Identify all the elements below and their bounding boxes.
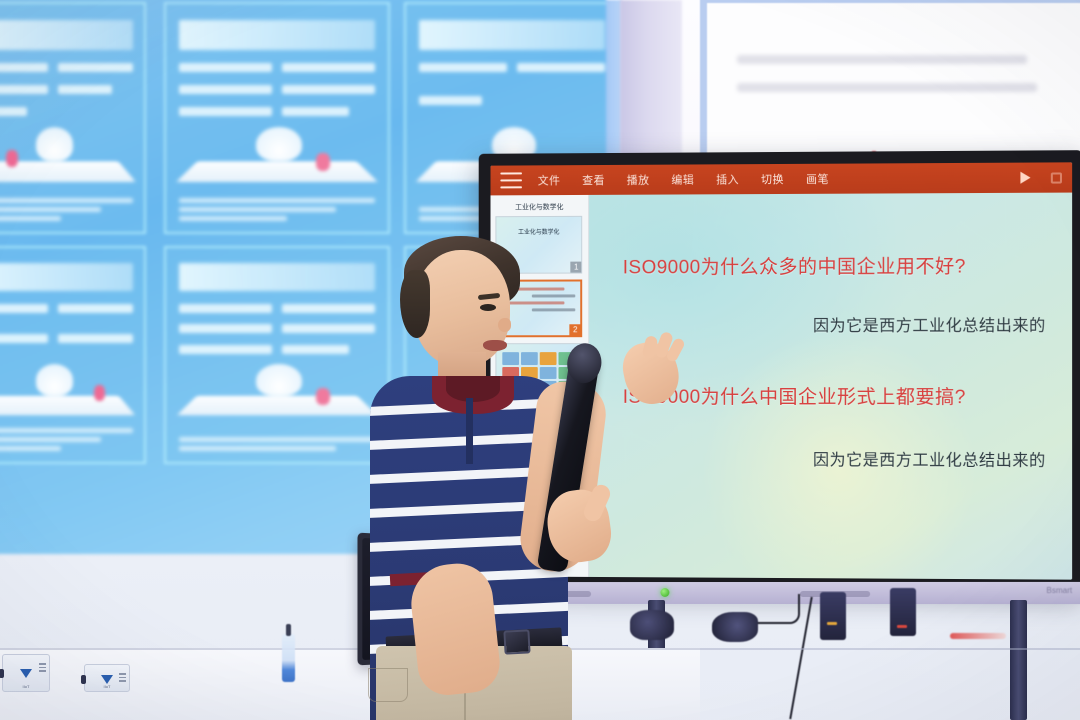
led-bullet [419,63,507,72]
led-bullet [179,324,272,333]
document-title: 工业化与数学化 [495,199,583,216]
device-status-leds [39,663,46,672]
led-bullet [179,85,272,94]
led-bullet [58,334,133,343]
led-panel-caption [0,189,133,221]
play-icon[interactable] [1020,172,1030,184]
speaker-left [820,592,846,640]
illustration-dome [36,364,74,396]
illustration-plate [0,395,135,414]
menu-item-edit[interactable]: 编辑 [671,171,694,187]
trouser-pocket [368,668,408,702]
conference-camera-2 [712,612,758,642]
power-led-indicator [660,588,669,597]
illustration-dome [256,364,302,396]
caption-line [0,446,61,451]
led-panel-bullets [179,304,374,360]
led-bullet [517,63,605,72]
slide-answer-1: 因为它是西方工业化总结出来的 [813,312,1046,336]
gateway-module-device: IIoT [2,654,50,692]
display-stand-leg-right [1010,600,1027,720]
led-panel-title [0,20,133,50]
slide-question-1: ISO9000为什么众多的中国企业用不好? [623,251,966,279]
led-bullet [282,85,375,94]
menu-item-view[interactable]: 查看 [582,172,605,188]
whiteboard-writing [737,83,1037,92]
illustration-plate [176,161,377,181]
presentation-scene: 文件 查看 播放 编辑 插入 切换 画笔 工业化与数学化 [0,0,1080,720]
led-panel-caption [0,421,133,451]
sensor-module-device: IIoT [84,664,130,692]
whiteboard [700,0,1080,172]
menu-item-switch[interactable]: 切换 [761,171,784,187]
presenter-nose [498,318,511,332]
display-brand-label: Bsmart [1046,586,1072,595]
led-panel-2 [164,2,390,234]
toolbar-actions [1020,171,1062,183]
microphone-head [564,341,604,386]
caption-line [0,437,101,442]
led-bullet [0,85,48,94]
app-toolbar: 文件 查看 播放 编辑 插入 切换 画笔 [490,162,1072,195]
speaker-led-icon [897,625,907,628]
caption-line [0,207,101,212]
menu-bar: 文件 查看 播放 编辑 插入 切换 画笔 [538,171,829,189]
caption-line [0,428,133,433]
led-bullet [0,107,27,116]
led-panel-illustration [188,364,366,420]
belt-buckle [503,629,530,654]
led-panel-title [179,263,374,291]
device-caption: IIoT [104,684,111,689]
hamburger-menu-icon[interactable] [500,172,522,188]
led-panel-title [179,20,374,50]
led-bullet [179,63,272,72]
illustration-figure [316,153,330,171]
illustration-figure [94,385,106,402]
illustration-dome [256,127,302,161]
illustration-figure [6,150,18,168]
presenter [352,232,652,720]
bottle-cap [286,624,291,636]
led-bullet [282,107,349,116]
device-connector [81,675,86,684]
led-panel-bullets [0,304,133,360]
presenter-eye [480,304,496,311]
led-panel-title [0,263,133,291]
led-panel-bullets [419,63,606,122]
slide-answer-2: 因为它是西方工业化总结出来的 [813,446,1046,471]
menu-item-file[interactable]: 文件 [538,172,561,188]
led-bullet [0,63,48,72]
led-panel-caption [179,189,374,221]
speaker-led-icon [827,622,837,625]
illustration-plate [0,161,135,181]
led-panel-illustration [0,364,126,420]
device-connector [0,669,4,678]
presenter-hair-side [400,270,430,338]
caption-line [0,216,61,221]
caption-line [179,216,286,221]
led-bullet [0,304,48,313]
caption-line [179,437,374,442]
led-bullet [179,107,272,116]
illustration-figure [316,388,330,405]
stop-square-icon[interactable] [1051,172,1062,183]
led-panel-bullets [179,63,374,122]
speaker-right [890,588,916,636]
led-panel-caption [179,421,374,451]
led-bullet [282,345,349,354]
illustration-plate [177,395,376,414]
led-panel-1 [0,2,146,234]
presenter-collar-inner [446,376,500,402]
red-pointer-stick [950,633,1006,639]
led-bullet [58,63,133,72]
led-panel-title [419,20,606,50]
illustration-dome [36,127,74,161]
led-bullet [0,334,48,343]
whiteboard-writing [737,55,1027,64]
led-bullet [179,304,272,313]
presenter-mouth [483,340,507,351]
led-bullet [58,304,133,313]
led-panel-4 [0,246,146,464]
water-bottle [282,634,295,682]
led-bullet [58,85,112,94]
caption-line [179,207,335,212]
caption-line [0,198,133,203]
caption-line [179,198,374,203]
device-logo-icon [101,675,113,684]
led-panel-illustration [0,127,126,186]
menu-item-play[interactable]: 播放 [627,172,650,188]
led-panel-illustration [188,127,366,186]
caption-line [179,446,335,451]
device-logo-icon [20,669,32,678]
presenter-placket [466,398,473,464]
menu-item-insert[interactable]: 插入 [716,171,739,187]
led-bullet [282,63,375,72]
device-caption: IIoT [23,684,30,689]
led-bullet [419,96,483,105]
led-panel-bullets [0,63,133,122]
led-bullet [179,345,272,354]
menu-item-brush[interactable]: 画笔 [806,171,829,187]
device-status-leds [119,673,126,682]
